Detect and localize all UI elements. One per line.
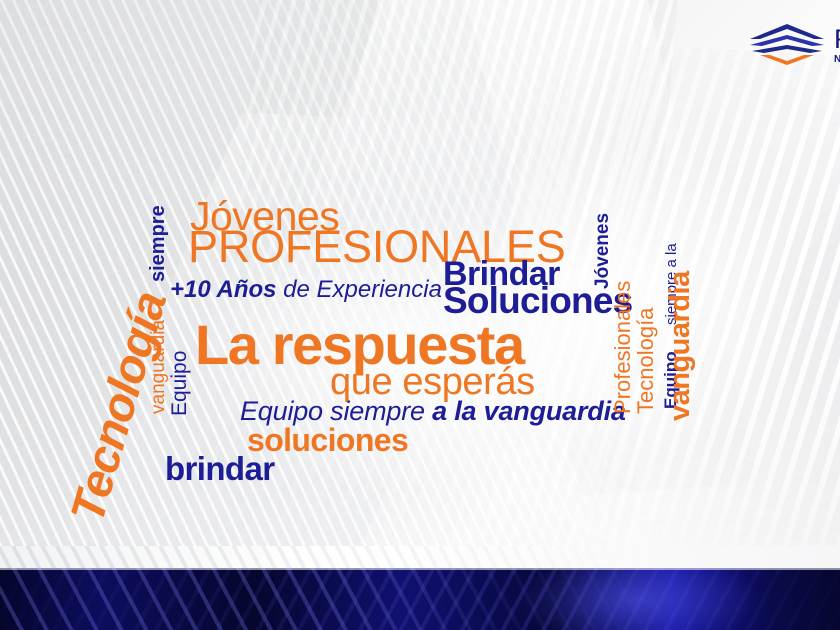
word-vanguardia-large-vertical: vanguardia xyxy=(666,271,695,421)
word-brindar-small: brindar xyxy=(165,452,274,485)
word-cloud: Tecnología siempre vanguardia Equipo Jóv… xyxy=(0,0,840,630)
bottom-band-top-edge xyxy=(0,568,840,570)
bottom-light-sliver xyxy=(0,546,840,568)
bottom-navy-band xyxy=(0,568,840,630)
word-a-la-vanguardia: a la vanguardia xyxy=(432,396,626,426)
word-tecnologia-vertical: Tecnología xyxy=(635,308,657,414)
word-vanguardia-vertical: vanguardia xyxy=(149,320,168,414)
poster-canvas: RC Neg Tecnología siempre vanguardia Equ… xyxy=(0,0,840,630)
word-jovenes-vertical: Jóvenes xyxy=(593,213,612,289)
word-equipo-vertical: Equipo xyxy=(169,351,190,416)
bottom-band-glow xyxy=(521,568,756,630)
word-anios-bold: +10 Años xyxy=(170,276,277,303)
word-profesionales-vertical: Profesionales xyxy=(612,281,634,414)
word-equipo-siempre-vanguardia: Equipo siempre a la vanguardia xyxy=(240,398,626,425)
word-anios-rest: de Experiencia xyxy=(277,276,442,303)
word-anios-experiencia: +10 Años de Experiencia xyxy=(170,278,442,302)
word-siempre-vertical: siempre xyxy=(148,205,168,282)
bottom-light-sliver-stripes xyxy=(0,546,840,568)
